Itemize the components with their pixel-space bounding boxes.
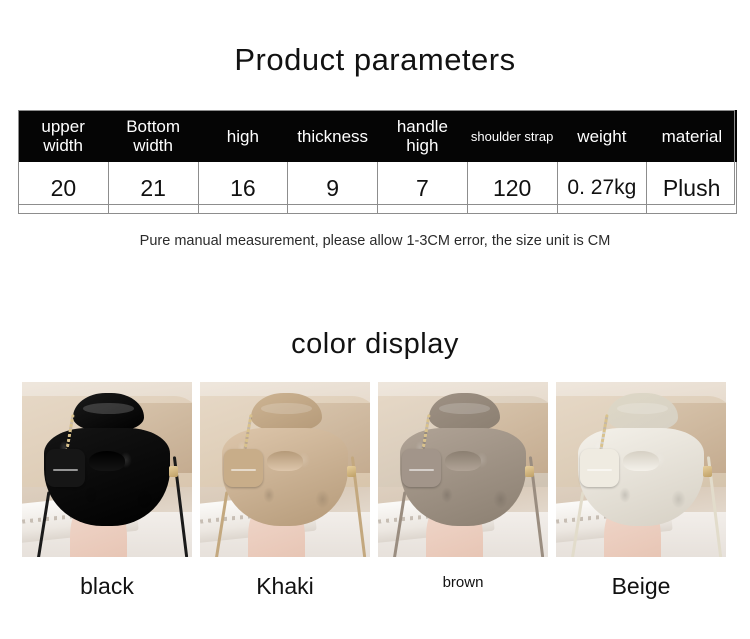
column-header-high: high [198, 110, 288, 162]
color-swatch-brown[interactable]: brown [378, 382, 548, 599]
color-swatch-beige[interactable]: Beige [556, 382, 726, 599]
column-header-weight: weight [557, 110, 647, 162]
photo-scene [22, 382, 192, 557]
cell-shoulder-strap: 120 [467, 162, 557, 214]
measurement-note: Pure manual measurement, please allow 1-… [0, 232, 750, 251]
cell-handle-high: 7 [378, 162, 468, 214]
photo-scene [200, 382, 370, 557]
product-photo-beige[interactable] [556, 382, 726, 557]
column-header-upper-width: upper width [19, 110, 109, 162]
cell-upper-width: 20 [19, 162, 109, 214]
bag-hang-tag [46, 449, 85, 488]
product-parameter-table-wrap: upper width Bottom width high thickness … [18, 110, 737, 214]
bag-hardware-clasp [347, 466, 356, 477]
column-header-shoulder-strap: shoulder strap [467, 110, 557, 162]
bag-hang-tag [402, 449, 441, 488]
bag-hardware-clasp [169, 466, 178, 477]
table-head: upper width Bottom width high thickness … [19, 110, 737, 162]
section-title-color-display: color display [0, 327, 750, 361]
bag-opening-notch [89, 451, 124, 471]
photo-scene [556, 382, 726, 557]
bag-hang-tag [580, 449, 619, 488]
color-display-gallery: black Khaki [22, 382, 734, 599]
cell-material: Plush [647, 162, 737, 214]
color-swatch-khaki[interactable]: Khaki [200, 382, 370, 599]
product-photo-brown[interactable] [378, 382, 548, 557]
bag-opening-notch [445, 451, 480, 471]
bag-opening-notch [623, 451, 658, 471]
column-header-bottom-width: Bottom width [108, 110, 198, 162]
bag-hang-tag [224, 449, 263, 488]
color-label-beige: Beige [612, 573, 671, 599]
photo-scene [378, 382, 548, 557]
color-label-brown: brown [443, 573, 484, 593]
product-photo-khaki[interactable] [200, 382, 370, 557]
table-header-row: upper width Bottom width high thickness … [19, 110, 737, 162]
cell-high: 16 [198, 162, 288, 214]
color-label-black: black [80, 573, 134, 599]
cell-weight: 0. 27kg [557, 162, 647, 214]
table-row: 20 21 16 9 7 120 0. 27kg Plush [19, 162, 737, 214]
page-title-product-parameters: Product parameters [0, 42, 750, 78]
color-swatch-black[interactable]: black [22, 382, 192, 599]
product-photo-black[interactable] [22, 382, 192, 557]
column-header-thickness: thickness [288, 110, 378, 162]
table-body: 20 21 16 9 7 120 0. 27kg Plush [19, 162, 737, 214]
cell-bottom-width: 21 [108, 162, 198, 214]
color-label-khaki: Khaki [256, 573, 314, 599]
cell-thickness: 9 [288, 162, 378, 214]
column-header-handle-high: handle high [378, 110, 468, 162]
product-parameter-table: upper width Bottom width high thickness … [18, 110, 737, 214]
bag-opening-notch [267, 451, 302, 471]
bag-hardware-clasp [703, 466, 712, 477]
bag-hardware-clasp [525, 466, 534, 477]
column-header-material: material [647, 110, 737, 162]
